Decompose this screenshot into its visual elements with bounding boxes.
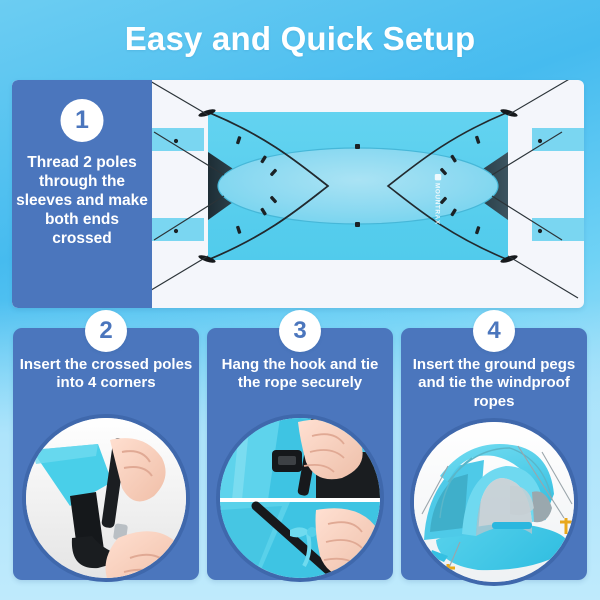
step-2-number-badge: 2 (85, 310, 127, 352)
step-4-instruction-text: Insert the ground pegs and tie the windp… (407, 356, 581, 411)
ground-peg (442, 564, 455, 582)
step-1-number-badge: 1 (61, 99, 104, 142)
step-3-photo (216, 414, 384, 582)
side-flap-tab (152, 218, 204, 241)
step-3-card: 3 Hang the hook and tie the rope securel… (207, 328, 393, 580)
step-4-number-badge: 4 (473, 310, 515, 352)
step-4-photo (410, 418, 578, 586)
step-2-instruction-text: Insert the crossed poles into 4 corners (19, 356, 193, 393)
step-2-card: 2 Insert the crossed poles into 4 corner… (13, 328, 199, 580)
svg-text:MOUNTRAX: MOUNTRAX (433, 183, 440, 225)
step-1-instruction-text: Thread 2 poles through the sleeves and m… (16, 154, 148, 249)
step-2-photo (22, 414, 190, 582)
step-4-card: 4 Insert the ground pegs and tie the win… (401, 328, 587, 580)
step-3-instruction-text: Hang the hook and tie the rope securely (213, 356, 387, 393)
steps-row: 2 Insert the crossed poles into 4 corner… (0, 328, 600, 588)
tent-flat-layout-illustration: MOUNTRAX (152, 80, 584, 308)
step-1-label-panel: 1 Thread 2 poles through the sleeves and… (12, 80, 152, 308)
side-flap-tab (152, 128, 204, 151)
step-3-number-badge: 3 (279, 310, 321, 352)
step-1-card: 1 Thread 2 poles through the sleeves and… (12, 80, 584, 308)
page-title: Easy and Quick Setup (0, 20, 600, 58)
